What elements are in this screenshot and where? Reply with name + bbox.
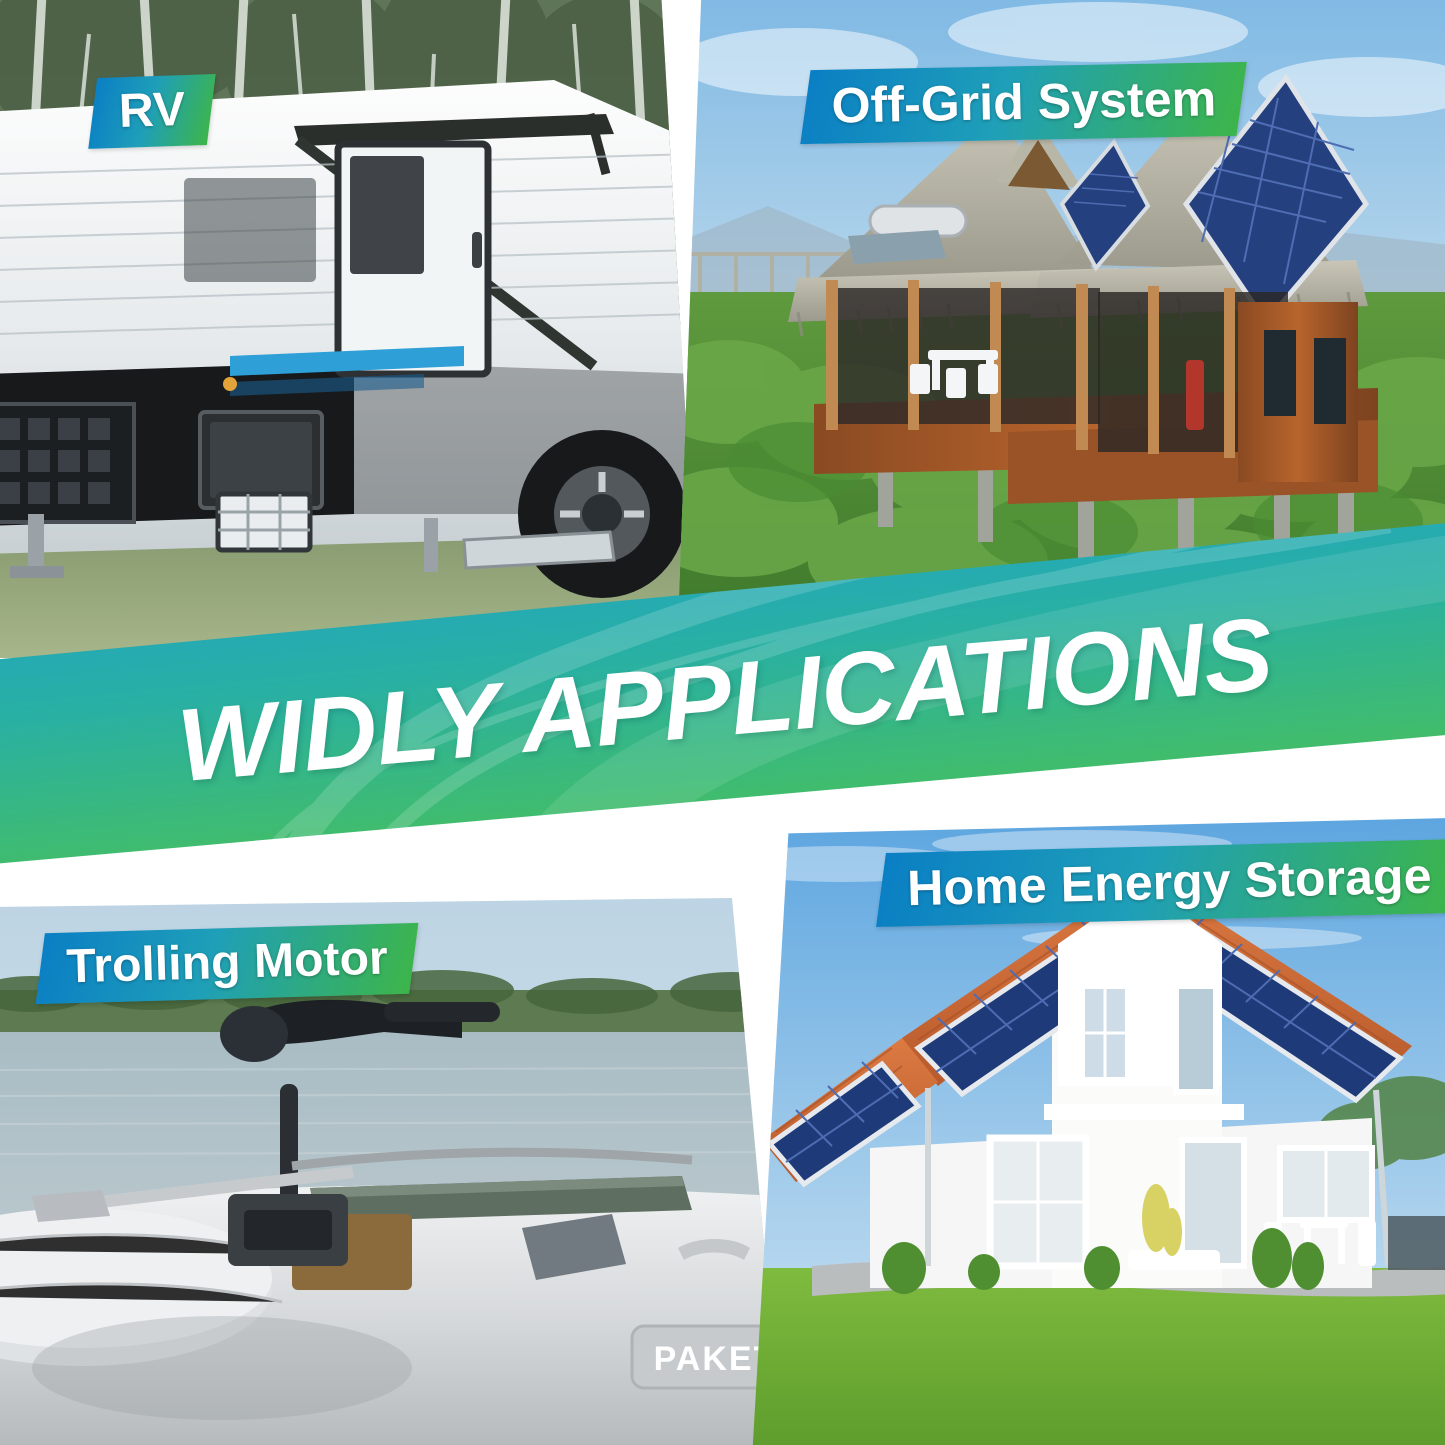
tag-home-energy-storage-label: Home Energy Storage xyxy=(906,847,1432,918)
tag-off-grid-system-label: Off-Grid System xyxy=(831,69,1217,134)
tag-off-grid-system: Off-Grid System xyxy=(800,62,1247,144)
banner-headline: WIDLY APPLICATIONS xyxy=(173,595,1276,805)
tag-rv-label: RV xyxy=(118,82,186,139)
tag-rv: RV xyxy=(88,74,215,149)
tag-trolling-motor: Trolling Motor xyxy=(36,923,419,1004)
tag-home-energy-storage: Home Energy Storage xyxy=(876,839,1445,927)
tag-trolling-motor-label: Trolling Motor xyxy=(66,931,389,995)
application-collage: RV xyxy=(0,0,1445,1445)
